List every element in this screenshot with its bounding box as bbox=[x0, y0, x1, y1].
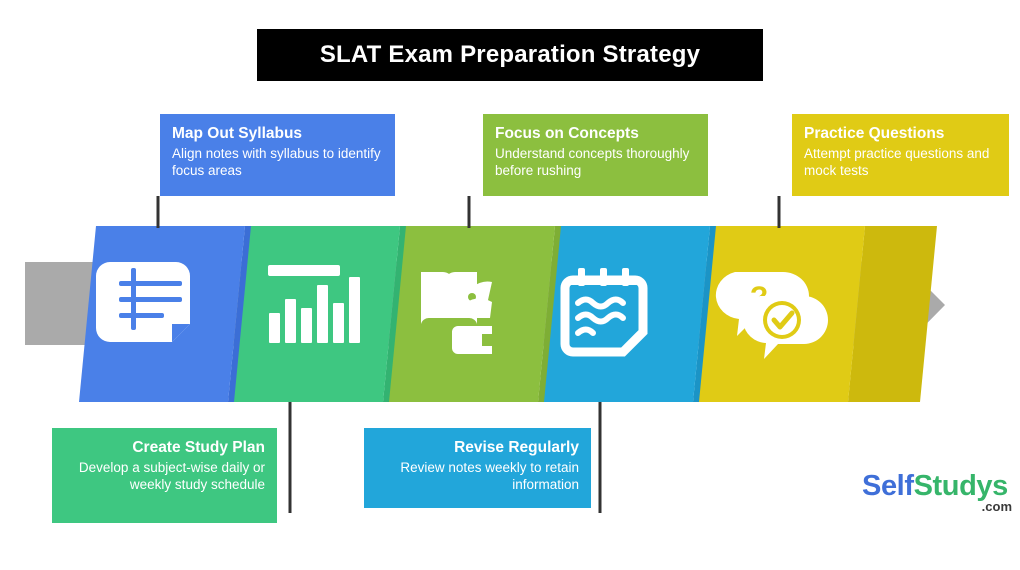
step-label-title: Revise Regularly bbox=[376, 438, 579, 457]
selfstudys-logo[interactable]: SelfStudys .com bbox=[862, 470, 1012, 518]
step-label-title: Map Out Syllabus bbox=[172, 124, 383, 143]
logo-text-self: Self bbox=[862, 470, 914, 502]
logo-text-studys: Studys bbox=[914, 470, 1008, 502]
step-label-map-out-syllabus[interactable]: Map Out Syllabus Align notes with syllab… bbox=[160, 114, 395, 196]
step-label-practice-questions[interactable]: Practice Questions Attempt practice ques… bbox=[792, 114, 1009, 196]
step-label-focus-on-concepts[interactable]: Focus on Concepts Understand concepts th… bbox=[483, 114, 708, 196]
infographic-canvas: SLAT Exam Preparation Strategy bbox=[0, 0, 1020, 570]
step-label-revise-regularly[interactable]: Revise Regularly Review notes weekly to … bbox=[364, 428, 591, 508]
step-label-description: Understand concepts thoroughly before ru… bbox=[495, 145, 696, 179]
step-label-title: Focus on Concepts bbox=[495, 124, 696, 143]
logo-text-domain: .com bbox=[862, 500, 1012, 514]
step-label-title: Create Study Plan bbox=[64, 438, 265, 457]
step-label-title: Practice Questions bbox=[804, 124, 997, 143]
step-label-description: Align notes with syllabus to identify fo… bbox=[172, 145, 383, 179]
step-label-description: Develop a subject-wise daily or weekly s… bbox=[64, 459, 265, 493]
logo-wordmark: SelfStudys bbox=[862, 470, 1012, 502]
step-label-description: Attempt practice questions and mock test… bbox=[804, 145, 997, 179]
step-label-description: Review notes weekly to retain informatio… bbox=[376, 459, 579, 493]
step-label-create-study-plan[interactable]: Create Study Plan Develop a subject-wise… bbox=[52, 428, 277, 523]
